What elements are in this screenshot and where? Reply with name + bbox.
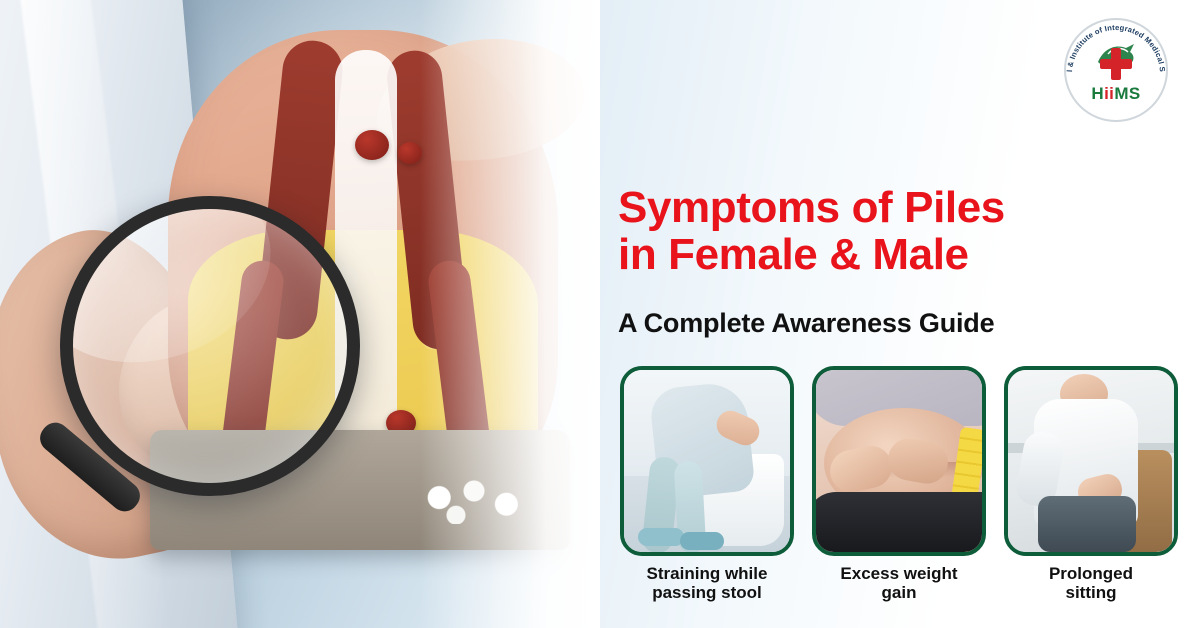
symptom-card-image-weight-gain bbox=[812, 366, 986, 556]
symptom-card-caption: Prolonged sitting bbox=[1004, 564, 1178, 602]
caption-line-1: Excess weight bbox=[812, 564, 986, 583]
medical-cross-icon bbox=[1100, 48, 1132, 80]
headline-line-1: Symptoms of Piles bbox=[618, 184, 1138, 231]
hero-image bbox=[0, 0, 600, 628]
symptom-card-caption: Excess weight gain bbox=[812, 564, 986, 602]
symptom-card-image-prolonged-sitting bbox=[1004, 366, 1178, 556]
card3-pants bbox=[1038, 496, 1136, 552]
logo-wordmark: HiiMS bbox=[1056, 84, 1176, 104]
page-title: Symptoms of Piles in Female & Male bbox=[618, 184, 1138, 278]
symptom-card: Straining while passing stool bbox=[620, 366, 794, 616]
caption-line-2: sitting bbox=[1004, 583, 1178, 602]
symptom-card: Prolonged sitting bbox=[1004, 366, 1178, 616]
logo-wordmark-ii: ii bbox=[1104, 84, 1114, 103]
caption-line-1: Straining while bbox=[620, 564, 794, 583]
model-hemorrhoid-lesion bbox=[398, 142, 422, 164]
banner: Hospital & Institute of Integrated Medic… bbox=[0, 0, 1200, 628]
hero-fade-overlay bbox=[420, 0, 600, 628]
card1-shoe bbox=[680, 532, 724, 550]
logo-wordmark-ms: MS bbox=[1114, 84, 1140, 103]
symptom-card: Excess weight gain bbox=[812, 366, 986, 616]
model-hemorrhoid-lesion bbox=[355, 130, 389, 160]
caption-line-2: gain bbox=[812, 583, 986, 602]
symptom-cards: Straining while passing stool Excess wei… bbox=[620, 366, 1180, 616]
card2-pants bbox=[812, 492, 986, 556]
caption-line-2: passing stool bbox=[620, 583, 794, 602]
card1-shoe bbox=[638, 528, 684, 546]
symptom-card-caption: Straining while passing stool bbox=[620, 564, 794, 602]
magnifier-glare bbox=[60, 196, 295, 392]
page-subtitle: A Complete Awareness Guide bbox=[618, 308, 1158, 339]
magnifying-glass-icon bbox=[60, 196, 360, 496]
caption-line-1: Prolonged bbox=[1004, 564, 1178, 583]
logo-wordmark-h: H bbox=[1091, 84, 1104, 103]
hiims-logo: Hospital & Institute of Integrated Medic… bbox=[1056, 14, 1176, 132]
headline-line-2: in Female & Male bbox=[618, 231, 1138, 278]
symptom-card-image-straining bbox=[620, 366, 794, 556]
